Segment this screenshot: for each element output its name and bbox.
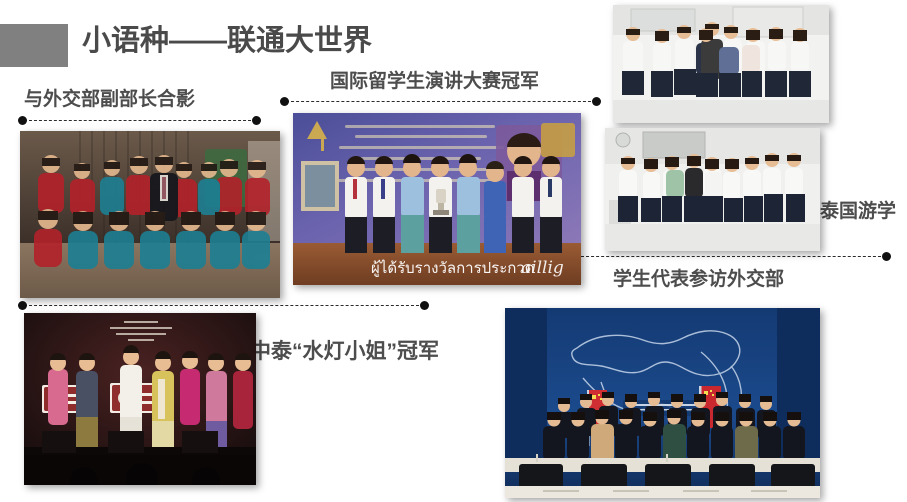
connector-loy [24, 305, 424, 306]
speech-contest-award-photo: ผู้ได้รับรางวัลการประกวด aillig [293, 113, 581, 285]
mfa-press-hall-photo [505, 308, 820, 498]
caption-student-visit: 学生代表参访外交部 [613, 268, 784, 292]
title-accent-block [0, 24, 68, 67]
caption-mofa-photo: 与外交部副部长合影 [24, 88, 195, 112]
mofa-group-photo [20, 131, 280, 298]
svg-text:aillig: aillig [521, 258, 564, 278]
svg-text:ผู้ได้รับรางวัลการประกวด: ผู้ได้รับรางวัลการประกวด [371, 259, 535, 277]
connector-visit-dot-right [882, 252, 891, 261]
connector-mofa-dot-right [252, 116, 261, 125]
connector-mofa-dot-left [18, 116, 27, 125]
connector-mofa [24, 120, 256, 121]
slide-canvas: 小语种——联通大世界 与外交部副部长合影 国际留学生演讲大赛冠军 泰国游学 学生… [0, 0, 907, 502]
caption-speech-contest: 国际留学生演讲大赛冠军 [330, 70, 539, 94]
thailand-classroom-photo-top [613, 5, 829, 123]
connector-speech-dot-right [592, 97, 601, 106]
thailand-classroom-photo-bottom [605, 128, 820, 251]
connector-speech [286, 101, 596, 102]
caption-thailand-study: 泰国游学 [820, 200, 896, 224]
connector-visit [581, 256, 886, 257]
connector-speech-dot-left [280, 97, 289, 106]
connector-loy-dot-right [420, 301, 429, 310]
caption-loy-krathong: 中泰“水灯小姐”冠军 [250, 340, 439, 364]
connector-loy-dot-left [18, 301, 27, 310]
loy-krathong-stage-photo [24, 313, 256, 485]
page-title: 小语种——联通大世界 [82, 22, 372, 60]
